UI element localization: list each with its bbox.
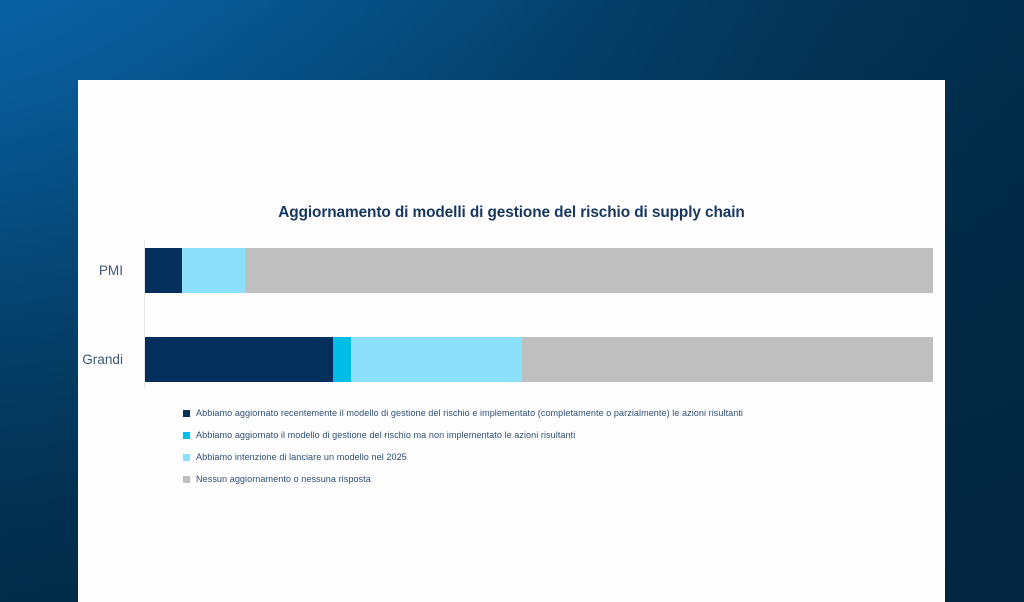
category-label: PMI bbox=[99, 248, 145, 293]
legend-label: Abbiamo aggiornato il modello di gestion… bbox=[196, 430, 575, 440]
category-label: Grandi bbox=[82, 337, 145, 382]
bar-segment bbox=[333, 337, 350, 382]
legend-swatch-icon bbox=[183, 410, 190, 417]
legend-item[interactable]: Abbiamo aggiornato recentemente il model… bbox=[183, 402, 923, 424]
legend-item[interactable]: Abbiamo intenzione di lanciare un modell… bbox=[183, 446, 923, 468]
legend-label: Abbiamo intenzione di lanciare un modell… bbox=[196, 452, 407, 462]
chart-legend: Abbiamo aggiornato recentemente il model… bbox=[183, 402, 923, 490]
bar-segment bbox=[182, 248, 245, 293]
slide-canvas: Aggiornamento di modelli di gestione del… bbox=[0, 0, 1024, 602]
legend-swatch-icon bbox=[183, 476, 190, 483]
bar-segment bbox=[245, 248, 933, 293]
legend-item[interactable]: Abbiamo aggiornato il modello di gestion… bbox=[183, 424, 923, 446]
bar-row: PMI bbox=[145, 248, 933, 293]
legend-swatch-icon bbox=[183, 454, 190, 461]
bar-segment bbox=[145, 248, 182, 293]
bar-row: Grandi bbox=[145, 337, 933, 382]
legend-swatch-icon bbox=[183, 432, 190, 439]
legend-label: Abbiamo aggiornato recentemente il model… bbox=[196, 408, 743, 418]
chart-plot-area: PMIGrandi bbox=[145, 240, 933, 388]
bar-segment bbox=[522, 337, 933, 382]
bar-segment bbox=[145, 337, 333, 382]
legend-label: Nessun aggiornamento o nessuna risposta bbox=[196, 474, 371, 484]
chart-title: Aggiornamento di modelli di gestione del… bbox=[78, 204, 945, 222]
bar-segment bbox=[351, 337, 522, 382]
legend-item[interactable]: Nessun aggiornamento o nessuna risposta bbox=[183, 468, 923, 490]
chart-card: Aggiornamento di modelli di gestione del… bbox=[78, 80, 945, 602]
